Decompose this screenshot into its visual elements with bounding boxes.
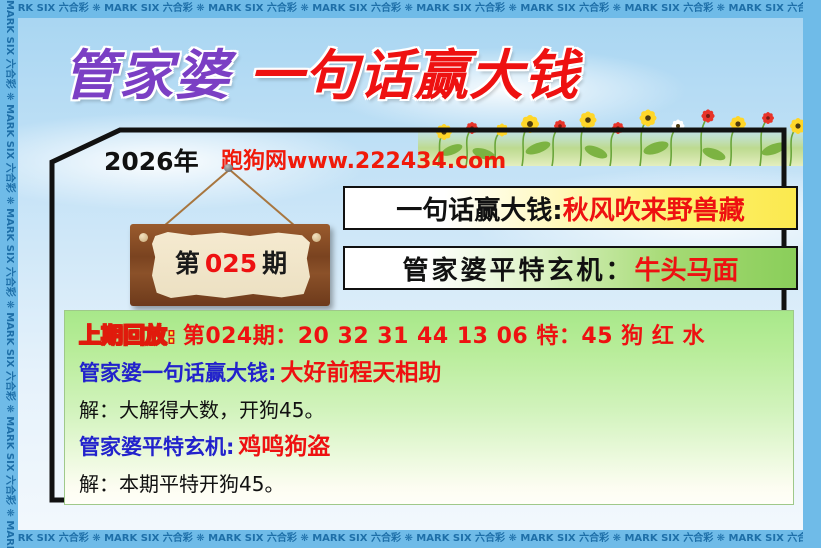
replay-label: 上期回放: — [79, 324, 176, 349]
banner-green-label: 管家婆平特玄机： — [402, 250, 634, 287]
lottery-poster: 管家婆一句话赢大钱 2026年 跑狗网www.222434.com 第025期 — [0, 0, 821, 548]
border-strip-left: MARK SIX 六合彩 ❋ MARK SIX 六合彩 ❋ MARK SIX 六… — [0, 0, 18, 548]
replay-line: 上期回放:第024期：20 32 31 44 13 06 特：45 狗 红 水 — [79, 320, 779, 354]
title-brand: 管家婆 — [63, 44, 231, 107]
plaque-board: 第025期 — [130, 224, 330, 306]
entry-2-explain: 解：本期平特开狗45。 — [79, 466, 779, 502]
entry-1-value: 大好前程天相助 — [280, 360, 441, 386]
banner-yellow-label: 一句话赢大钱: — [396, 190, 562, 227]
entry-2-value: 鸡鸣狗盗 — [238, 434, 330, 460]
border-strip-bottom: MARK SIX 六合彩 ❋ MARK SIX 六合彩 ❋ MARK SIX 六… — [0, 530, 821, 548]
banner-yi-ju-hua: 一句话赢大钱:秋风吹来野兽藏 — [343, 186, 798, 230]
border-strip-bottom-text: MARK SIX 六合彩 ❋ MARK SIX 六合彩 ❋ MARK SIX 六… — [0, 533, 821, 544]
issue-prefix: 第 — [175, 249, 200, 278]
entry-2-line: 管家婆平特玄机:鸡鸣狗盗 — [79, 428, 779, 466]
entry-1-line: 管家婆一句话赢大钱:大好前程天相助 — [79, 354, 779, 392]
banner-ping-te-xuan-ji: 管家婆平特玄机：牛头马面 — [343, 246, 798, 290]
border-strip-left-text: MARK SIX 六合彩 ❋ MARK SIX 六合彩 ❋ MARK SIX 六… — [0, 0, 18, 548]
plaque-nail — [224, 164, 233, 172]
content-panel: 上期回放:第024期：20 32 31 44 13 06 特：45 狗 红 水 … — [64, 310, 794, 505]
border-strip-right: MARK SIX 六合彩 ❋ MARK SIX 六合彩 ❋ MARK SIX 六… — [803, 0, 821, 548]
banner-yellow-value: 秋风吹来野兽藏 — [563, 190, 745, 227]
issue-plaque: 第025期 — [122, 164, 338, 309]
banner-green-value: 牛头马面 — [635, 250, 739, 287]
sky-background: 管家婆一句话赢大钱 2026年 跑狗网www.222434.com 第025期 — [18, 18, 803, 530]
page-title: 管家婆一句话赢大钱 — [63, 46, 579, 106]
title-slogan: 一句话赢大钱 — [249, 44, 579, 107]
issue-suffix: 期 — [262, 249, 287, 278]
border-strip-top-text: MARK SIX 六合彩 ❋ MARK SIX 六合彩 ❋ MARK SIX 六… — [0, 3, 821, 14]
entry-2-label: 管家婆平特玄机: — [79, 435, 234, 459]
issue-text: 第025期 — [152, 248, 310, 280]
entry-1-explain: 解：大解得大数，开狗45。 — [79, 392, 779, 428]
border-strip-top: MARK SIX 六合彩 ❋ MARK SIX 六合彩 ❋ MARK SIX 六… — [0, 0, 821, 18]
issue-number: 025 — [205, 249, 257, 278]
entry-1-label: 管家婆一句话赢大钱: — [79, 361, 276, 385]
plaque-paper: 第025期 — [152, 232, 310, 298]
replay-numbers: 第024期：20 32 31 44 13 06 特：45 狗 红 水 — [183, 324, 705, 349]
